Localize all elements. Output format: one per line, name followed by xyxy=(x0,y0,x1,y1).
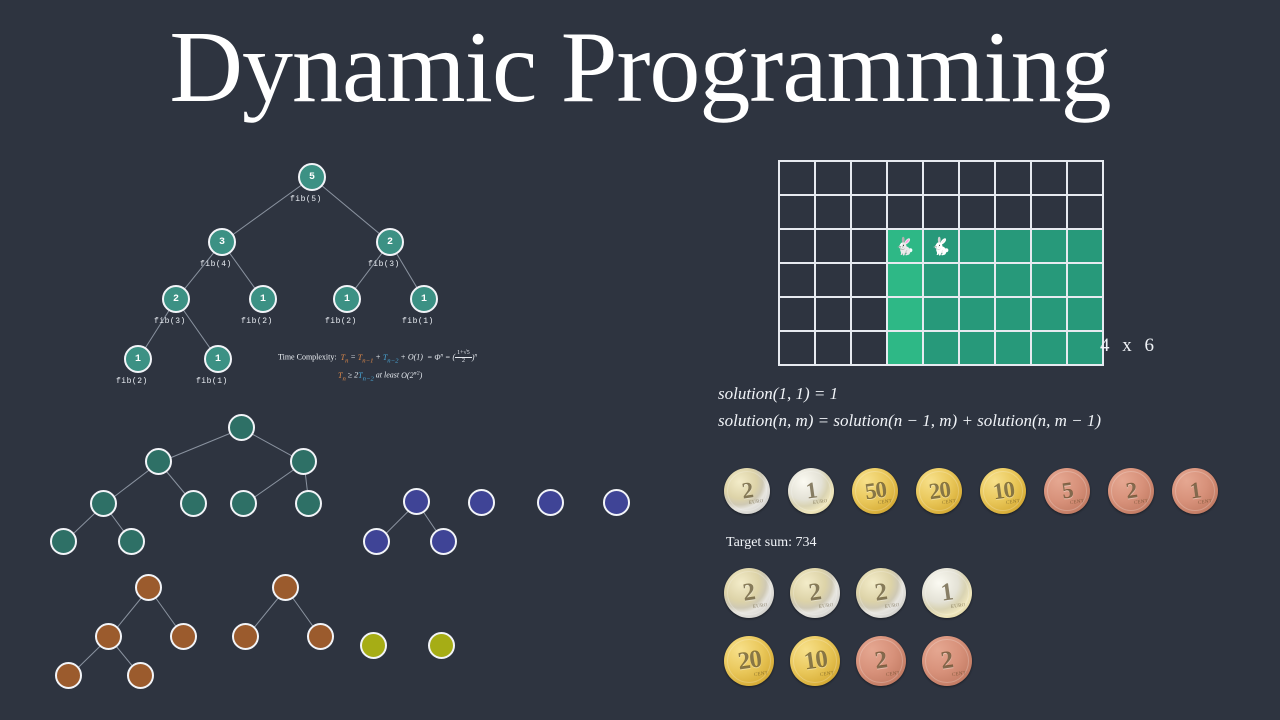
grid-row xyxy=(779,195,1103,229)
time-complexity-annotation: Time Complexity: Tn = Tn−1 + Tn−2 + O(1)… xyxy=(278,349,508,394)
solution-base-case: solution(1, 1) = 1 xyxy=(718,380,1101,407)
fib-node[interactable]: 3 xyxy=(208,228,236,256)
subproblem-forest xyxy=(40,400,680,690)
grid-row xyxy=(779,297,1103,331)
coin-denomination: 2 xyxy=(741,578,756,607)
solution-coin[interactable]: 2CENT xyxy=(856,636,906,686)
grid-cell[interactable] xyxy=(923,331,959,365)
coin-unit: CENT xyxy=(819,671,834,678)
forest-node[interactable] xyxy=(90,490,117,517)
fib-node-label: fib(1) xyxy=(402,317,434,326)
grid-cell[interactable] xyxy=(851,331,887,365)
forest-node[interactable] xyxy=(430,528,457,555)
solution-coins-row-1: 2EURO2EURO2EURO1EURO xyxy=(724,568,972,618)
forest-node[interactable] xyxy=(363,528,390,555)
solution-coin[interactable]: 2EURO xyxy=(856,568,906,618)
forest-node[interactable] xyxy=(403,488,430,515)
complexity-plus-1: + xyxy=(375,353,380,362)
grid-cell[interactable] xyxy=(779,229,815,263)
forest-node[interactable] xyxy=(228,414,255,441)
complexity-golden-ratio-fraction: 1+√52 xyxy=(455,350,472,365)
grid-cell[interactable]: 🐇 xyxy=(923,229,959,263)
grid-cell[interactable] xyxy=(1067,297,1103,331)
coin-denomination: 2 xyxy=(873,646,888,675)
coin-unit: CENT xyxy=(877,499,892,506)
grid-cell[interactable] xyxy=(851,229,887,263)
grid-cell[interactable] xyxy=(887,195,923,229)
complexity-caption: Time Complexity: xyxy=(278,353,337,362)
grid-cell[interactable] xyxy=(851,263,887,297)
coin-unit: EURO xyxy=(819,603,834,610)
coin-unit: EURO xyxy=(951,603,966,610)
rabbit-icon: 🐇 xyxy=(888,238,922,255)
coin-denomination: 2 xyxy=(1124,477,1138,504)
forest-node[interactable] xyxy=(55,662,82,689)
fib-node-label: fib(3) xyxy=(154,317,186,326)
complexity-term-tn: Tn xyxy=(339,353,349,362)
coin-denomination: 20 xyxy=(736,646,763,677)
grid-cell[interactable] xyxy=(959,297,995,331)
fib-node-label: fib(2) xyxy=(116,377,148,386)
forest-node[interactable] xyxy=(232,623,259,650)
grid-cell[interactable] xyxy=(1067,331,1103,365)
fib-node-label: fib(2) xyxy=(325,317,357,326)
grid-cell[interactable] xyxy=(923,297,959,331)
forest-node[interactable] xyxy=(127,662,154,689)
grid-cell[interactable] xyxy=(779,195,815,229)
grid-cell[interactable] xyxy=(815,195,851,229)
coin-unit: CENT xyxy=(1069,499,1084,506)
coin-unit: CENT xyxy=(1133,499,1148,506)
forest-node[interactable] xyxy=(290,448,317,475)
grid-cell[interactable] xyxy=(1031,229,1067,263)
grid-cell[interactable] xyxy=(959,229,995,263)
grid-cell[interactable] xyxy=(779,297,815,331)
grid-cell[interactable] xyxy=(815,331,851,365)
solution-coin[interactable]: 20CENT xyxy=(724,636,774,686)
forest-node[interactable] xyxy=(537,489,564,516)
grid-cell[interactable] xyxy=(1067,263,1103,297)
available-coin[interactable]: 10CENT xyxy=(980,468,1026,514)
coin-denomination: 10 xyxy=(802,646,829,677)
complexity-lb-tn: Tn xyxy=(338,371,346,380)
complexity-bigo-2: O(2n⁄2) xyxy=(401,371,422,380)
available-coin[interactable]: 1CENT xyxy=(1172,468,1218,514)
forest-node[interactable] xyxy=(95,623,122,650)
forest-node[interactable] xyxy=(428,632,455,659)
grid-cell[interactable] xyxy=(1067,195,1103,229)
grid-cell[interactable] xyxy=(1031,195,1067,229)
grid-cell[interactable] xyxy=(995,229,1031,263)
grid-cell[interactable]: 🐇 xyxy=(887,229,923,263)
grid-cell[interactable] xyxy=(995,331,1031,365)
grid-cell[interactable] xyxy=(923,263,959,297)
grid-cell[interactable] xyxy=(1067,229,1103,263)
forest-node[interactable] xyxy=(118,528,145,555)
grid-cell[interactable] xyxy=(851,297,887,331)
available-coin[interactable]: 50CENT xyxy=(852,468,898,514)
grid-cell[interactable] xyxy=(779,263,815,297)
complexity-eq-2: = Φn = xyxy=(425,353,451,362)
solution-recursive-case: solution(n, m) = solution(n − 1, m) + so… xyxy=(718,407,1101,434)
fib-node-label: fib(2) xyxy=(241,317,273,326)
slide-canvas: Dynamic Programming 5fib(5)3fib(4)2fib(3… xyxy=(0,0,1280,720)
grid-cell[interactable] xyxy=(815,229,851,263)
coin-unit: EURO xyxy=(813,499,828,506)
complexity-bigo-1: O(1) xyxy=(408,353,423,362)
forest-node[interactable] xyxy=(145,448,172,475)
coin-denomination: 50 xyxy=(863,477,887,506)
grid-cell[interactable] xyxy=(851,195,887,229)
grid-cell[interactable] xyxy=(995,263,1031,297)
fib-node[interactable]: 1 xyxy=(410,285,438,313)
fib-node[interactable]: 1 xyxy=(124,345,152,373)
forest-node[interactable] xyxy=(170,623,197,650)
available-coins-row: 2EURO1EURO50CENT20CENT10CENT5CENT2CENT1C… xyxy=(724,468,1218,514)
grid-cell[interactable] xyxy=(887,297,923,331)
complexity-line-1: Time Complexity: Tn = Tn−1 + Tn−2 + O(1)… xyxy=(278,349,508,367)
solution-coin[interactable]: 1EURO xyxy=(922,568,972,618)
fib-node[interactable]: 5 xyxy=(298,163,326,191)
grid-cell[interactable] xyxy=(1067,161,1103,195)
coin-unit: EURO xyxy=(749,499,764,506)
available-coin[interactable]: 5CENT xyxy=(1044,468,1090,514)
rabbit-icon: 🐇 xyxy=(924,238,958,255)
page-title: Dynamic Programming xyxy=(0,8,1280,128)
fib-node[interactable]: 1 xyxy=(204,345,232,373)
coin-denomination: 2 xyxy=(807,578,822,607)
coin-unit: EURO xyxy=(885,603,900,610)
forest-node[interactable] xyxy=(295,490,322,517)
complexity-plus-2: + xyxy=(400,353,405,362)
coin-unit: CENT xyxy=(885,671,900,678)
solution-recurrence: solution(1, 1) = 1 solution(n, m) = solu… xyxy=(718,380,1101,434)
fib-node-label: fib(3) xyxy=(368,260,400,269)
complexity-geq: ≥ 2 xyxy=(348,371,358,380)
solution-coin[interactable]: 10CENT xyxy=(790,636,840,686)
grid-table: 🐇🐇 xyxy=(778,160,1104,366)
forest-node[interactable] xyxy=(50,528,77,555)
solution-coin[interactable]: 2EURO xyxy=(724,568,774,618)
grid-cell[interactable] xyxy=(779,161,815,195)
grid-cell[interactable] xyxy=(815,297,851,331)
complexity-line-2: Tn ≥ 2Tn−2 at least O(2n⁄2) xyxy=(278,367,508,385)
grid-cell[interactable] xyxy=(779,331,815,365)
forest-node[interactable] xyxy=(360,632,387,659)
grid-dimension-label: 4 x 6 xyxy=(1100,335,1158,357)
coin-denomination: 10 xyxy=(991,477,1015,506)
grid-cell[interactable] xyxy=(851,161,887,195)
grid-cell[interactable] xyxy=(815,161,851,195)
complexity-eq: = xyxy=(350,353,355,362)
grid-cell[interactable] xyxy=(815,263,851,297)
available-coin[interactable]: 1EURO xyxy=(788,468,834,514)
coin-unit: CENT xyxy=(951,671,966,678)
rabbit-path-grid: 🐇🐇 xyxy=(778,160,1104,366)
fib-node[interactable]: 1 xyxy=(333,285,361,313)
grid-cell[interactable] xyxy=(923,161,959,195)
grid-cell[interactable] xyxy=(959,195,995,229)
available-coin[interactable]: 2EURO xyxy=(724,468,770,514)
fib-node[interactable]: 2 xyxy=(376,228,404,256)
fib-node[interactable]: 1 xyxy=(249,285,277,313)
forest-node[interactable] xyxy=(272,574,299,601)
fib-node[interactable]: 2 xyxy=(162,285,190,313)
target-sum-label: Target sum: 734 xyxy=(726,535,817,551)
forest-node[interactable] xyxy=(468,489,495,516)
forest-node[interactable] xyxy=(180,490,207,517)
coin-unit: EURO xyxy=(753,603,768,610)
complexity-term-tn1: Tn−1 xyxy=(358,353,374,362)
tree-edge xyxy=(222,177,313,243)
coin-denomination: 2 xyxy=(939,646,954,675)
grid-cell[interactable] xyxy=(995,195,1031,229)
complexity-term-tn2: Tn−2 xyxy=(383,353,399,362)
grid-row xyxy=(779,263,1103,297)
coin-denomination: 2 xyxy=(873,578,888,607)
grid-cell[interactable] xyxy=(923,195,959,229)
fib-node-label: fib(4) xyxy=(200,260,232,269)
fib-node-label: fib(1) xyxy=(196,377,228,386)
fib-node-label: fib(5) xyxy=(290,195,322,204)
coin-denomination: 1 xyxy=(1188,477,1202,504)
grid-cell[interactable] xyxy=(959,161,995,195)
complexity-atleast-label: at least xyxy=(376,371,399,380)
grid-cell[interactable] xyxy=(887,161,923,195)
coin-unit: CENT xyxy=(1197,499,1212,506)
forest-node[interactable] xyxy=(230,490,257,517)
grid-row xyxy=(779,161,1103,195)
grid-cell[interactable] xyxy=(1031,161,1067,195)
coin-denomination: 20 xyxy=(927,477,951,506)
grid-cell[interactable] xyxy=(995,297,1031,331)
grid-cell[interactable] xyxy=(1031,297,1067,331)
grid-cell[interactable] xyxy=(1031,263,1067,297)
coin-unit: CENT xyxy=(1005,499,1020,506)
complexity-paren-close: )n xyxy=(472,353,477,362)
grid-cell[interactable] xyxy=(887,263,923,297)
solution-coins-row-2: 20CENT10CENT2CENT2CENT xyxy=(724,636,972,686)
grid-cell[interactable] xyxy=(995,161,1031,195)
forest-node[interactable] xyxy=(135,574,162,601)
coin-denomination: 1 xyxy=(939,578,954,607)
grid-cell[interactable] xyxy=(887,331,923,365)
forest-node[interactable] xyxy=(307,623,334,650)
coin-denomination: 1 xyxy=(804,477,818,504)
grid-cell[interactable] xyxy=(959,263,995,297)
grid-row xyxy=(779,331,1103,365)
coin-denomination: 5 xyxy=(1060,477,1074,504)
available-coin[interactable]: 2CENT xyxy=(1108,468,1154,514)
coin-denomination: 2 xyxy=(740,477,754,504)
solution-coin[interactable]: 2CENT xyxy=(922,636,972,686)
grid-cell[interactable] xyxy=(1031,331,1067,365)
grid-cell[interactable] xyxy=(959,331,995,365)
coin-unit: CENT xyxy=(941,499,956,506)
forest-node[interactable] xyxy=(603,489,630,516)
coin-unit: CENT xyxy=(753,671,768,678)
solution-coin[interactable]: 2EURO xyxy=(790,568,840,618)
grid-row: 🐇🐇 xyxy=(779,229,1103,263)
available-coin[interactable]: 20CENT xyxy=(916,468,962,514)
complexity-lb-tn2: Tn−2 xyxy=(358,371,374,380)
